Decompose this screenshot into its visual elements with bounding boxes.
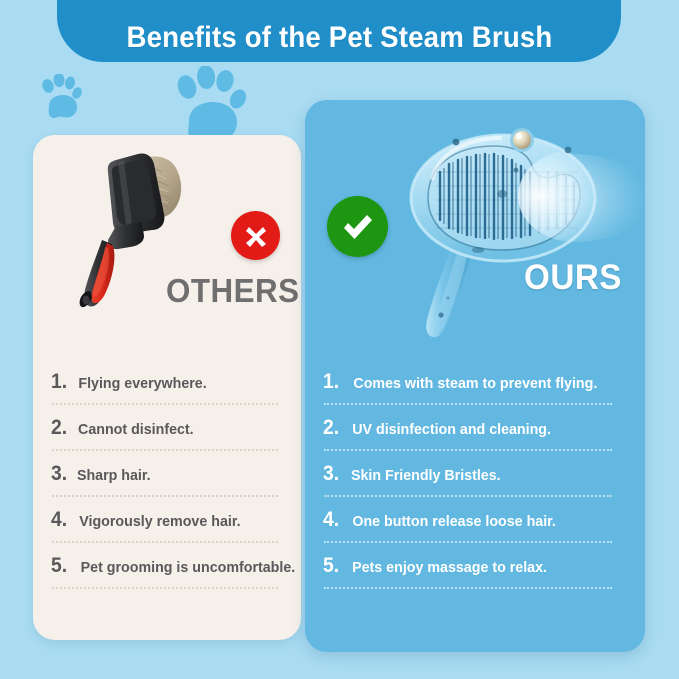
list-item: 2. UV disinfection and cleaning. — [322, 416, 627, 440]
paw-print-icon — [39, 74, 85, 122]
list-separator — [324, 495, 612, 497]
list-item-number: 5. — [51, 554, 74, 578]
list-item: 5. Pets enjoy massage to relax. — [322, 554, 627, 578]
list-item-text: Comes with steam to prevent flying. — [353, 375, 597, 392]
others-heading: OTHERS — [166, 272, 299, 310]
list-item: 1. Comes with steam to prevent flying. — [322, 370, 627, 394]
list-item-text: UV disinfection and cleaning. — [352, 421, 551, 438]
list-separator — [52, 541, 278, 543]
list-item-number: 1. — [323, 370, 346, 394]
list-separator — [324, 403, 612, 405]
list-item: 5. Pet grooming is uncomfortable. — [50, 554, 286, 578]
x-mark-badge — [231, 211, 280, 260]
list-item: 4. One button release loose hair. — [322, 508, 627, 532]
list-item-text: Cannot disinfect. — [78, 421, 194, 438]
list-item-number: 3. — [51, 462, 74, 486]
ours-heading: OURS — [524, 258, 622, 298]
list-item-text: One button release loose hair. — [352, 513, 556, 530]
list-separator — [324, 587, 612, 589]
steam-brush-illustration — [398, 110, 648, 345]
close-icon — [240, 220, 272, 252]
list-separator — [52, 449, 278, 451]
infographic-root: Benefits of the Pet Steam Brush — [0, 0, 679, 679]
others-list: 1. Flying everywhere. 2. Cannot disinfec… — [50, 370, 286, 600]
list-item: 2. Cannot disinfect. — [50, 416, 286, 440]
list-separator — [52, 587, 278, 589]
list-item-number: 4. — [51, 508, 74, 532]
list-item: 3. Skin Friendly Bristles. — [322, 462, 627, 486]
list-separator — [324, 449, 612, 451]
list-item-text: Skin Friendly Bristles. — [351, 467, 501, 484]
list-item-number: 3. — [323, 462, 346, 486]
list-item-text: Pet grooming is uncomfortable. — [81, 559, 296, 576]
list-separator — [52, 495, 278, 497]
list-item: 4. Vigorously remove hair. — [50, 508, 286, 532]
paw-print-icon-small — [39, 74, 85, 122]
list-item-number: 5. — [323, 554, 346, 578]
check-mark-badge — [327, 196, 388, 257]
list-separator — [324, 541, 612, 543]
list-item: 3. Sharp hair. — [50, 462, 286, 486]
list-item-text: Flying everywhere. — [78, 375, 206, 392]
list-item-number: 2. — [51, 416, 74, 440]
header-banner: Benefits of the Pet Steam Brush — [57, 0, 621, 62]
page-title: Benefits of the Pet Steam Brush — [126, 21, 552, 55]
list-item-text: Sharp hair. — [77, 467, 151, 484]
ours-list: 1. Comes with steam to prevent flying. 2… — [322, 370, 627, 600]
list-item-number: 1. — [51, 370, 74, 394]
list-item: 1. Flying everywhere. — [50, 370, 286, 394]
list-item-number: 4. — [323, 508, 346, 532]
list-item-text: Vigorously remove hair. — [79, 513, 240, 530]
list-item-number: 2. — [323, 416, 346, 440]
check-icon — [338, 207, 378, 247]
steam-brush-image — [398, 110, 648, 345]
list-item-text: Pets enjoy massage to relax. — [352, 559, 547, 576]
list-separator — [52, 403, 278, 405]
